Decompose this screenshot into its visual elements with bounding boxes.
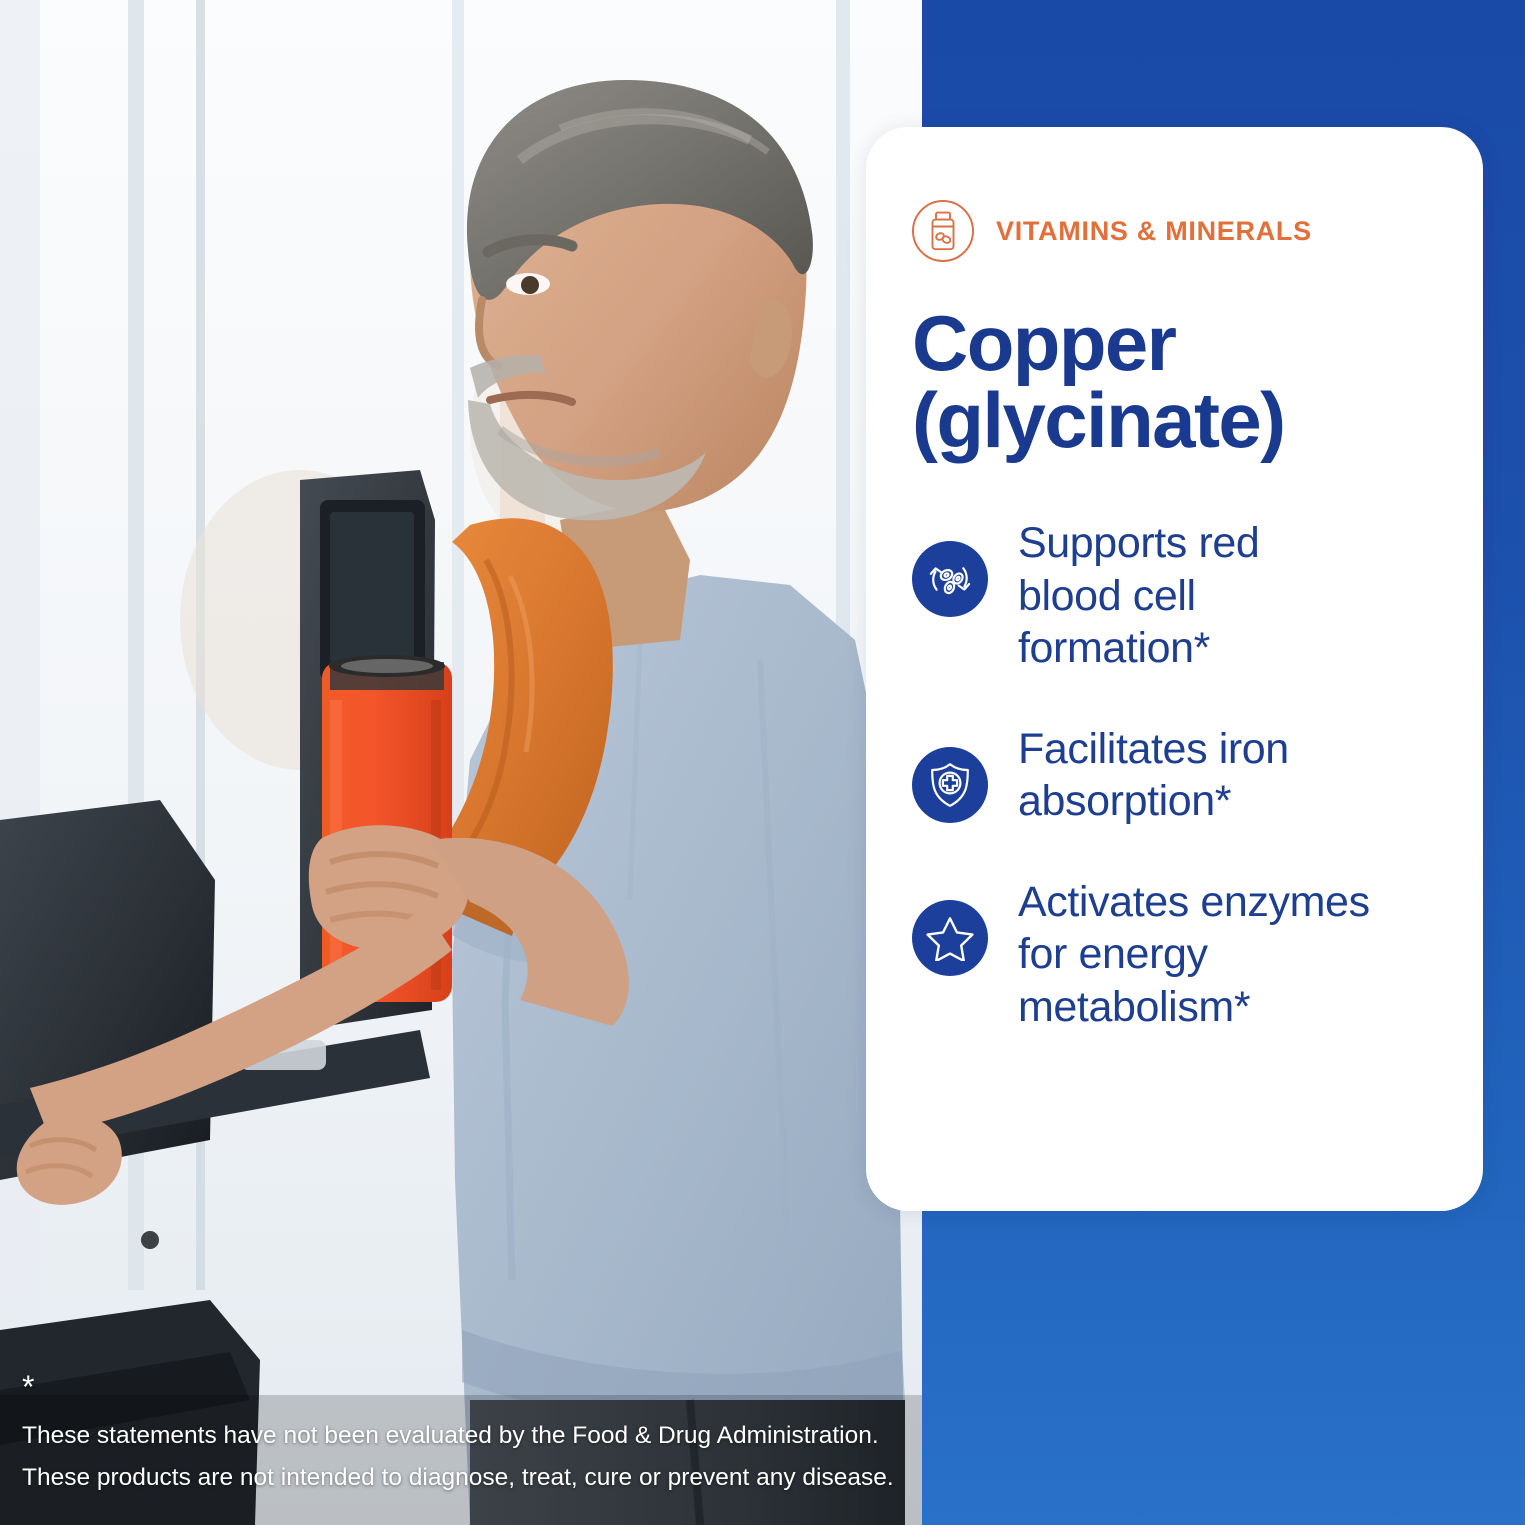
benefit-item: Facilitates iron absorption* [912,721,1472,828]
promo-graphic: VITAMINS & MINERALS Copper (glycinate) [0,0,1525,1525]
benefit-line-3: formation* [1018,624,1210,672]
blood-cells-cycle-icon [912,541,988,617]
info-card: VITAMINS & MINERALS Copper (glycinate) [866,127,1483,1211]
benefit-item: Supports red blood cell formation* [912,515,1472,674]
benefit-line-2: absorption* [1018,777,1231,825]
benefit-line-3: metabolism* [1018,983,1250,1031]
benefit-text: Facilitates iron absorption* [1018,721,1289,828]
benefit-line-1: Facilitates iron [1018,725,1289,773]
category-label: VITAMINS & MINERALS [996,216,1312,247]
title-line-1: Copper [912,305,1472,382]
benefit-line-2: blood cell [1018,572,1196,620]
page-title: Copper (glycinate) [912,305,1472,459]
benefit-text: Supports red blood cell formation* [1018,515,1259,674]
disclaimer: * These statements have not been evaluat… [22,1373,902,1499]
benefit-text: Activates enzymes for energy metabolism* [1018,874,1370,1033]
benefits-list: Supports red blood cell formation* [912,515,1472,1033]
benefit-line-1: Supports red [1018,519,1259,567]
disclaimer-line-2: These products are not intended to diagn… [22,1457,902,1499]
disclaimer-line-1: These statements have not been evaluated… [22,1415,902,1457]
benefit-line-2: for energy [1018,930,1208,978]
star-icon [912,900,988,976]
benefit-item: Activates enzymes for energy metabolism* [912,874,1472,1033]
pill-bottle-icon [912,200,974,262]
shield-cross-icon [912,747,988,823]
benefit-line-1: Activates enzymes [1018,878,1370,926]
disclaimer-asterisk: * [22,1371,34,1403]
category-row: VITAMINS & MINERALS [912,199,1472,263]
title-line-2: (glycinate) [912,382,1472,459]
lifestyle-photo [0,0,922,1525]
